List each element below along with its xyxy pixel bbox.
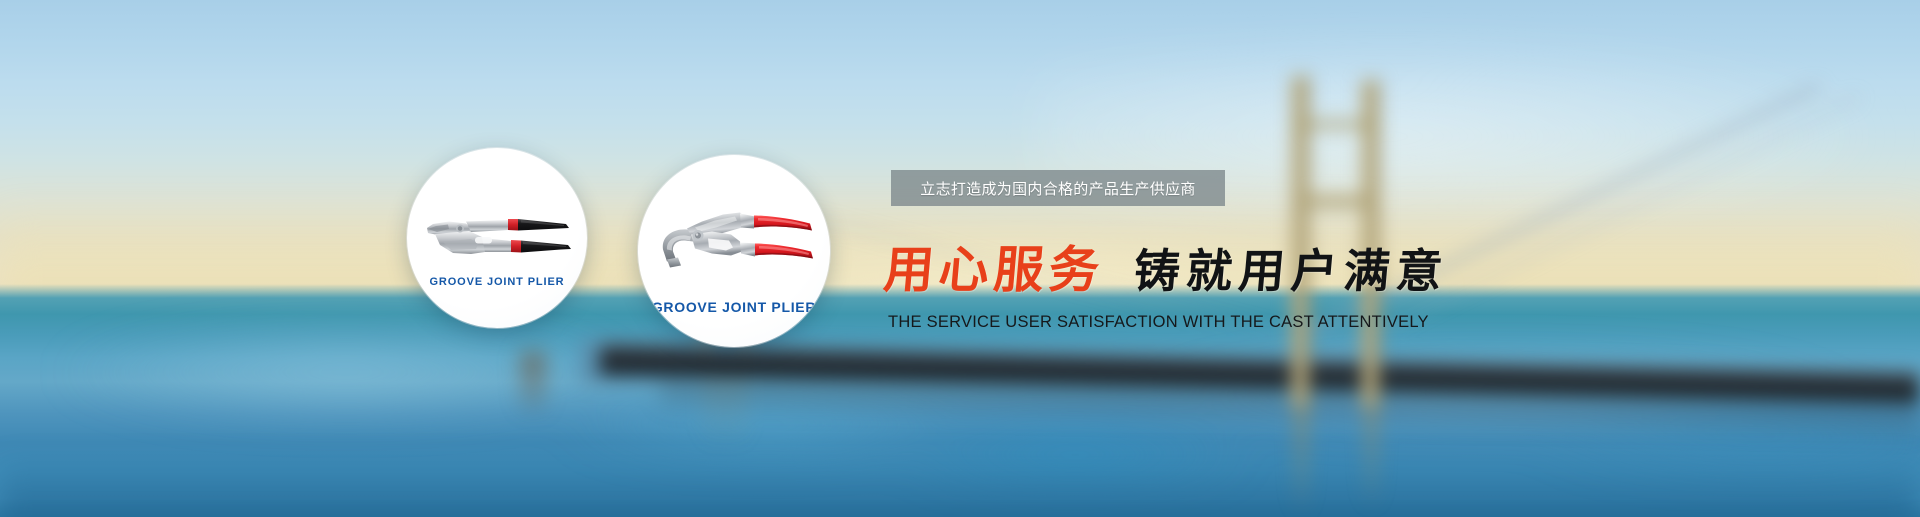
tagline-text: 立志打造成为国内合格的产品生产供应商 [920, 178, 1195, 199]
main-tower-crossbeam-upper [1292, 120, 1380, 129]
product-badge-1-label: GROOVE JOINT PLIER [407, 276, 587, 288]
headline-subtitle: THE SERVICE USER SATISFACTION WITH THE C… [888, 313, 1429, 332]
main-tower-crossbeam-lower [1292, 196, 1380, 207]
main-tower-reflection-left [1294, 406, 1309, 516]
product-badge-1[interactable]: GROOVE JOINT PLIER [407, 148, 587, 328]
headline: 用心服务 铸就用户满意 [884, 245, 1449, 295]
groove-joint-plier-black-handle-icon [423, 206, 573, 276]
headline-red-text: 用心服务 [882, 245, 1106, 295]
product-badge-2[interactable]: GROOVE JOINT PLIER [638, 155, 830, 347]
groove-joint-plier-red-handle-icon [656, 203, 816, 289]
product-badge-2-label: GROOVE JOINT PLIER [638, 299, 830, 315]
main-tower-reflection-right [1364, 406, 1379, 510]
hero-banner: GROOVE JOINT PLIER [0, 0, 1920, 517]
tagline-bar: 立志打造成为国内合格的产品生产供应商 [891, 170, 1225, 206]
bridge-pier [520, 352, 546, 412]
headline-black-text: 铸就用户满意 [1132, 248, 1451, 294]
